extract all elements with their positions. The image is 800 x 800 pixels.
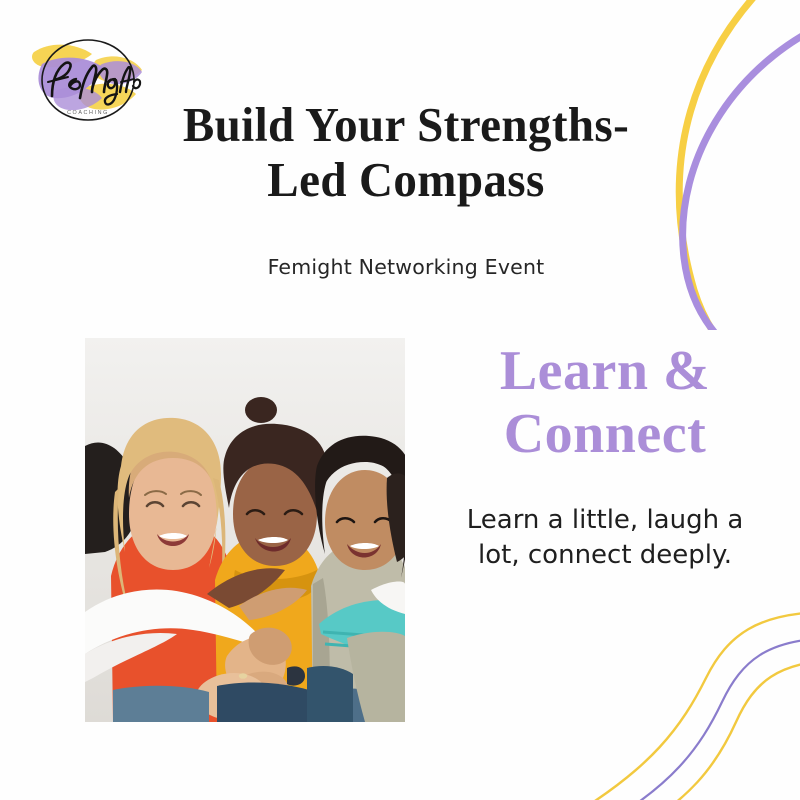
wavy-lines-decoration <box>506 556 800 800</box>
page-title: Build Your Strengths- Led Compass <box>108 98 703 208</box>
accent-heading: Learn & Connect <box>430 340 780 467</box>
right-text-column: Learn & Connect Learn a little, laugh a … <box>430 340 780 574</box>
headline-block: Build Your Strengths- Led Compass Femigh… <box>96 98 716 279</box>
accent-heading-line-1: Learn & <box>500 340 710 402</box>
tagline-text: Learn a little, laugh a lot, connect dee… <box>430 503 780 575</box>
photo-group-of-women <box>85 338 405 722</box>
page-title-line-2: Led Compass <box>267 152 544 207</box>
page-subtitle: Femight Networking Event <box>96 255 716 279</box>
page-title-line-1: Build Your Strengths- <box>183 97 629 152</box>
accent-heading-line-2: Connect <box>504 403 707 465</box>
poster-canvas: COACHING Build Your Strengths- Led Compa… <box>0 0 800 800</box>
